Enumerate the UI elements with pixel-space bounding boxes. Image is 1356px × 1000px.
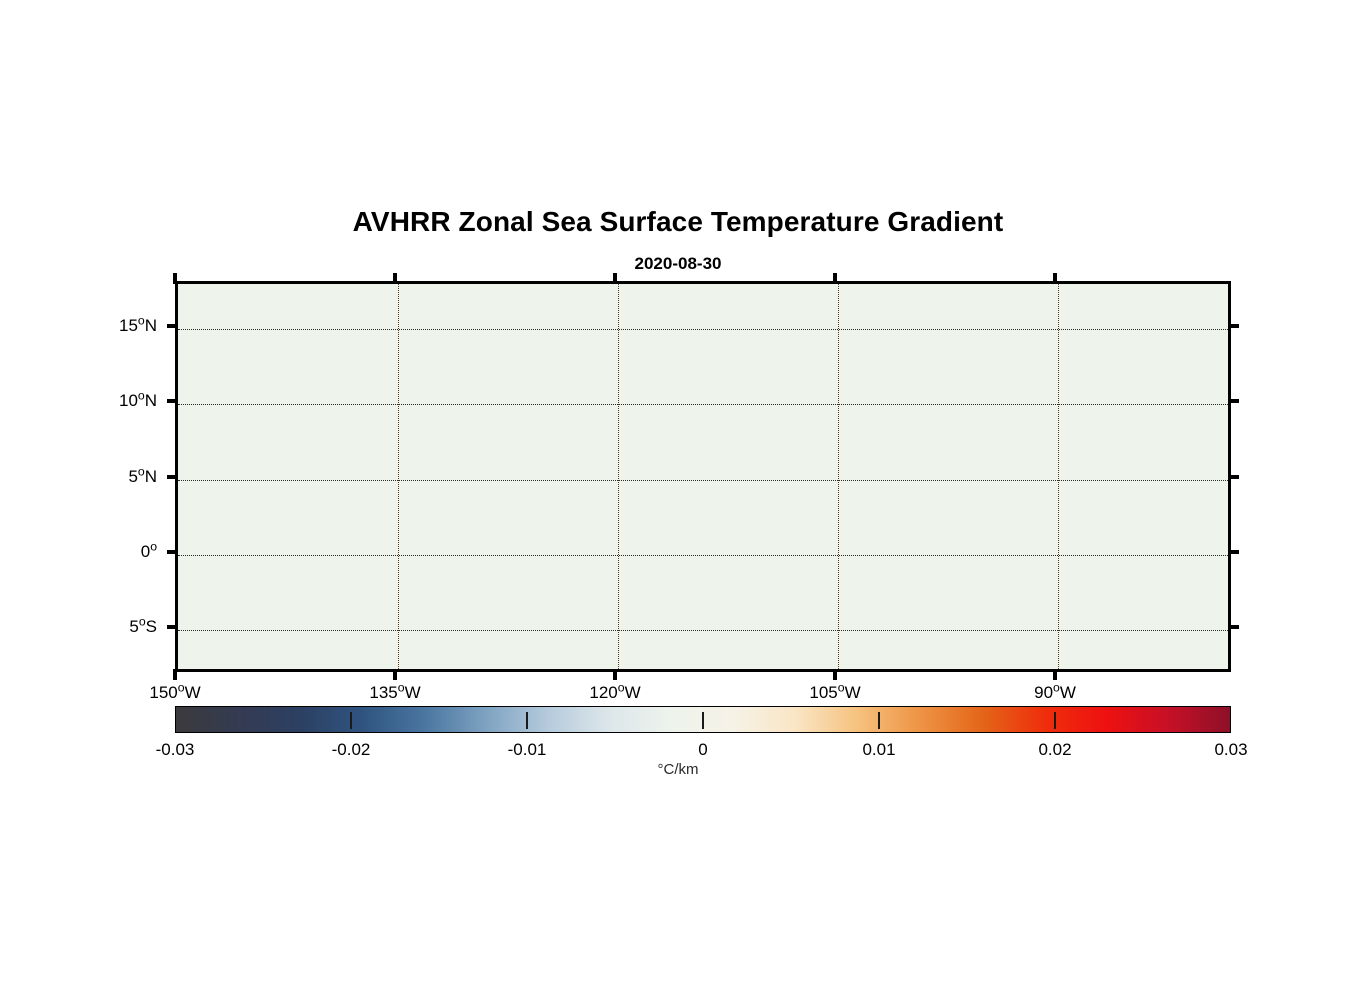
tick-lon-150W-top (173, 273, 177, 284)
colorbar-label-0.02: 0.02 (1038, 740, 1071, 760)
map-axes (175, 281, 1231, 672)
x-tick-label-105W: 105oW (809, 684, 860, 701)
tick-lat-0-left (167, 550, 178, 554)
figure-subtitle: 2020-08-30 (0, 254, 1356, 274)
colorbar-label--0.01: -0.01 (508, 740, 547, 760)
gridline-lat-5N (178, 480, 1228, 481)
tick-lon-135W-top (393, 273, 397, 284)
colorbar-label-0: 0 (698, 740, 707, 760)
gridline-lon-105W (838, 284, 839, 669)
colorbar-tick-5 (1054, 712, 1056, 729)
colorbar-label-0.03: 0.03 (1214, 740, 1247, 760)
gridline-lon-120W (618, 284, 619, 669)
y-tick-label-5N: 5oN (7, 468, 157, 485)
tick-lon-150W-bottom (173, 669, 177, 680)
colorbar-unit-label: °C/km (0, 761, 1356, 778)
tick-lat-5S-left (167, 625, 178, 629)
tick-lat-0-right (1228, 550, 1239, 554)
tick-lat-15N-right (1228, 324, 1239, 328)
x-tick-label-90W: 90oW (1034, 684, 1076, 701)
colorbar-label--0.03: -0.03 (156, 740, 195, 760)
gridline-lon-135W (398, 284, 399, 669)
tick-lat-10N-left (167, 399, 178, 403)
tick-lat-10N-right (1228, 399, 1239, 403)
tick-lon-120W-top (613, 273, 617, 284)
page-title: AVHRR Zonal Sea Surface Temperature Grad… (0, 206, 1356, 238)
tick-lon-135W-bottom (393, 669, 397, 680)
x-tick-label-135W: 135oW (369, 684, 420, 701)
y-tick-label-5S: 5oS (7, 618, 157, 635)
tick-lat-15N-left (167, 324, 178, 328)
gridline-lat-0 (178, 555, 1228, 556)
gridline-lat-15N (178, 329, 1228, 330)
gridline-lat-10N (178, 404, 1228, 405)
colorbar-tick-3 (702, 712, 704, 729)
colorbar-label-0.01: 0.01 (862, 740, 895, 760)
colorbar-tick-2 (526, 712, 528, 729)
tick-lon-105W-bottom (833, 669, 837, 680)
colorbar-tick-4 (878, 712, 880, 729)
colorbar-tick-1 (350, 712, 352, 729)
gridline-lat-5S (178, 630, 1228, 631)
tick-lat-5N-right (1228, 475, 1239, 479)
y-tick-label-10N: 10oN (7, 392, 157, 409)
tick-lat-5N-left (167, 475, 178, 479)
tick-lon-90W-bottom (1053, 669, 1057, 680)
x-tick-label-150W: 150oW (149, 684, 200, 701)
tick-lon-90W-top (1053, 273, 1057, 284)
y-tick-label-15N: 15oN (7, 317, 157, 334)
figure-canvas: AVHRR Zonal Sea Surface Temperature Grad… (0, 0, 1356, 1000)
tick-lat-5S-right (1228, 625, 1239, 629)
y-tick-label-0: 0o (7, 543, 157, 560)
x-tick-label-120W: 120oW (589, 684, 640, 701)
gridline-lon-90W (1058, 284, 1059, 669)
colorbar-label--0.02: -0.02 (332, 740, 371, 760)
sst-gradient-heatmap (178, 284, 1228, 669)
tick-lon-120W-bottom (613, 669, 617, 680)
tick-lon-105W-top (833, 273, 837, 284)
